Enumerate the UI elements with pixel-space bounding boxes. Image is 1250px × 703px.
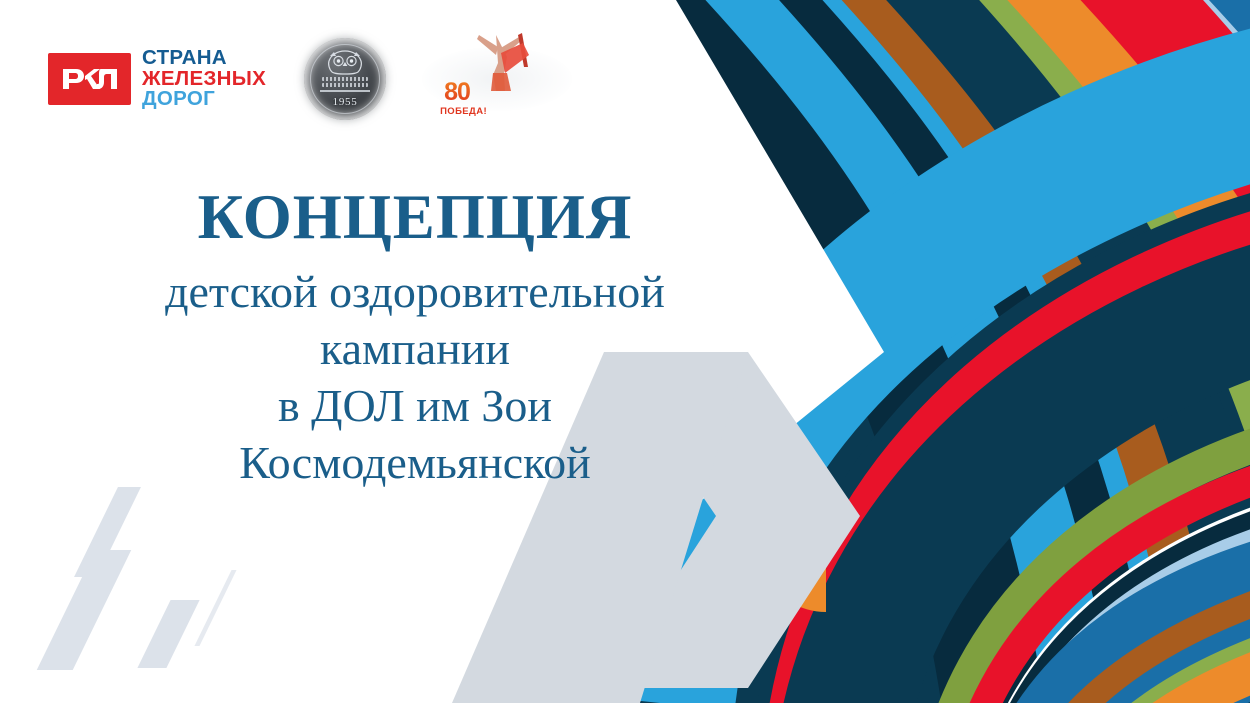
rzd-monogram-icon	[61, 66, 119, 92]
owl-emblem: 1955	[304, 38, 386, 120]
rzd-word-line-2: ЖЕЛЕЗНЫХ	[142, 69, 266, 90]
victory-number: 80	[444, 80, 470, 105]
subtitle-line-3: в ДОЛ им Зои	[0, 377, 830, 434]
page-subtitle: детской оздоровительной кампании в ДОЛ и…	[0, 263, 830, 491]
page-title: КОНЦЕПЦИЯ	[0, 186, 830, 249]
rzd-logo: СТРАНА ЖЕЛЕЗНЫХ ДОРОГ	[48, 48, 266, 110]
rzd-word-line-3: ДОРОГ	[142, 89, 266, 110]
victory-80-logo: 80 ПОБЕДА!	[422, 33, 572, 125]
title-block: КОНЦЕПЦИЯ детской оздоровительной кампан…	[0, 186, 830, 491]
rzd-red-box	[48, 53, 131, 105]
subtitle-line-1: детской оздоровительной	[0, 263, 830, 320]
slide-canvas: СТРАНА ЖЕЛЕЗНЫХ ДОРОГ	[0, 0, 1250, 703]
owl-year: 1955	[333, 96, 358, 108]
rzd-wordmark: СТРАНА ЖЕЛЕЗНЫХ ДОРОГ	[142, 48, 266, 110]
subtitle-line-4: Космодемьянской	[0, 434, 830, 491]
owl-inner-content: 1955	[304, 38, 386, 120]
rzd-word-line-1: СТРАНА	[142, 48, 266, 69]
logo-row: СТРАНА ЖЕЛЕЗНЫХ ДОРОГ	[48, 33, 572, 125]
victory-word: ПОБЕДА!	[440, 106, 487, 117]
owl-micro-text-2	[322, 83, 368, 87]
owl-icon	[325, 49, 365, 75]
owl-micro-text	[322, 77, 368, 81]
subtitle-line-2: кампании	[0, 320, 830, 377]
owl-divider-bar	[320, 90, 370, 92]
